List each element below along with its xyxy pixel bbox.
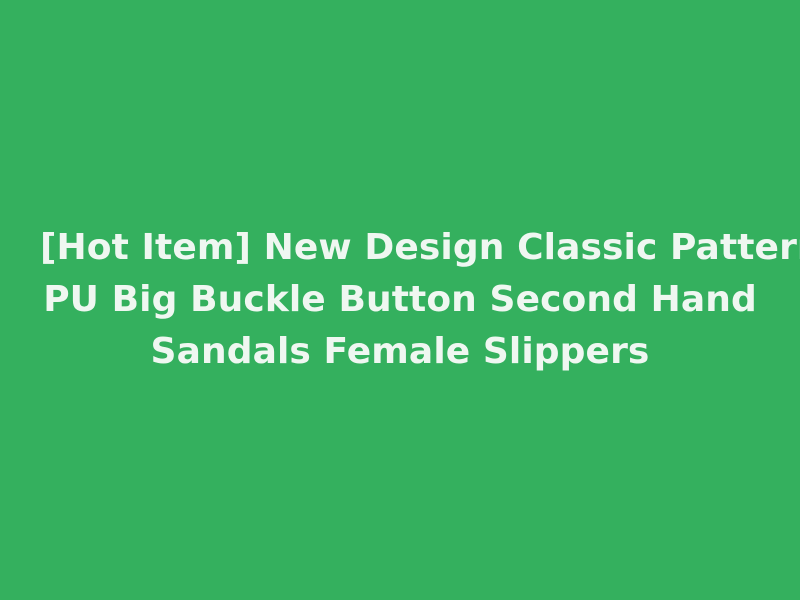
product-image-placeholder: [Hot Item] New Design Classic Pattern PU… (0, 0, 800, 600)
product-title: [Hot Item] New Design Classic Pattern PU… (40, 222, 760, 378)
product-title-block: [Hot Item] New Design Classic Pattern PU… (0, 222, 800, 378)
product-title-line-1: [Hot Item] New Design Classic Pattern (40, 222, 760, 274)
product-title-line-3: Sandals Female Slippers (40, 326, 760, 378)
product-title-line-2: PU Big Buckle Button Second Hand (40, 274, 760, 326)
